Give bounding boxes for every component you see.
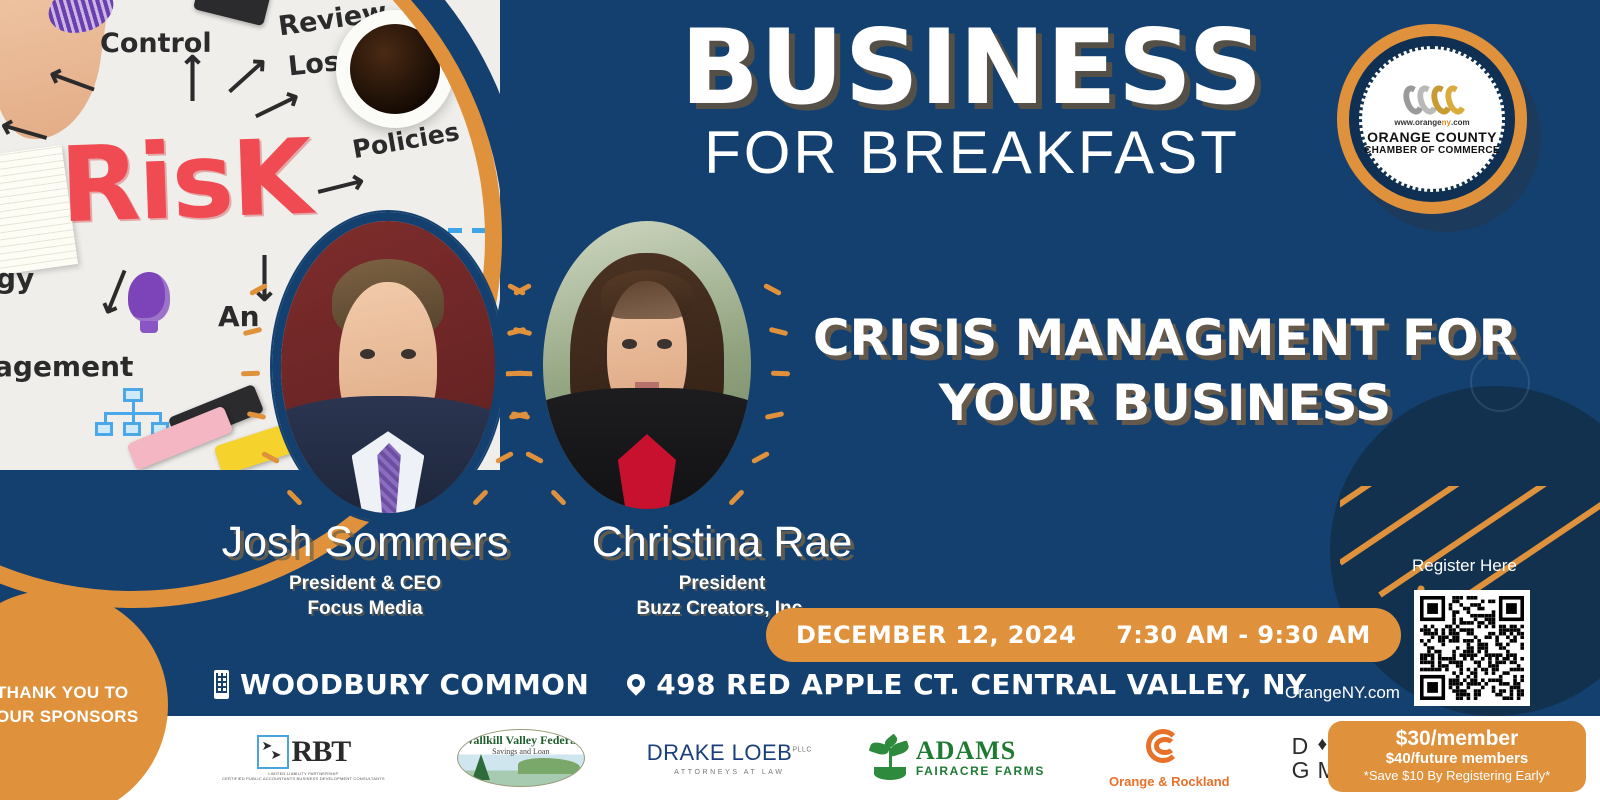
thank-you-sponsors-badge: THANK YOU TO OUR SPONSORS xyxy=(0,590,168,800)
speaker-name: Josh Sommers xyxy=(180,520,550,566)
sponsor-name: DRAKE LOEB xyxy=(647,740,793,765)
building-icon xyxy=(214,670,229,699)
plant-icon xyxy=(870,736,910,780)
price-member: $30/member xyxy=(1336,727,1578,750)
sponsor-logo-wallkill-valley[interactable]: Wallkill Valley Federal Savings and Loan xyxy=(457,716,585,800)
pricing-box: $30/member $40/future members *Save $10 … xyxy=(1328,721,1586,792)
geese-icon: ➤ ➤ xyxy=(257,735,289,769)
event-datetime-pill: DECEMBER 12, 2024 7:30 AM - 9:30 AM xyxy=(766,608,1401,662)
sponsor-name: ADAMS xyxy=(916,738,1045,764)
sponsor-name: Orange & Rockland xyxy=(1109,774,1230,789)
whiteboard-word-strategy: gy xyxy=(0,262,34,295)
whiteboard-word-management: agement xyxy=(0,350,133,383)
flyer-title: BUSINESS FOR BREAKFAST xyxy=(636,18,1308,186)
sponsor-logo-rbt[interactable]: ➤ ➤ RBT LIMITED LIABILITY PARTNERSHIP CE… xyxy=(222,716,385,800)
arrow-icon: ⟶ xyxy=(172,54,212,103)
tree-icon xyxy=(472,754,490,780)
marker-black xyxy=(193,0,271,26)
website-url[interactable]: OrangeNY.com xyxy=(1285,683,1400,703)
dgm-letter-d: D xyxy=(1292,735,1310,758)
sponsor-subtitle-1: FAIRACRE FARMS xyxy=(916,764,1045,778)
event-venue: WOODBURY COMMON xyxy=(240,668,589,701)
speaker-info-josh-sommers: Josh Sommers President & CEO Focus Media xyxy=(180,520,550,622)
event-date: DECEMBER 12, 2024 xyxy=(796,621,1076,649)
price-note: *Save $10 By Registering Early* xyxy=(1336,768,1578,784)
event-flyer: Control Review Loss Policies agement gy … xyxy=(0,0,1600,800)
sponsor-name: Wallkill Valley Federal xyxy=(458,733,584,748)
title-line-1: BUSINESS xyxy=(636,18,1308,119)
badge-website: www.orangeny.com xyxy=(1394,118,1469,127)
lightbulb-icon xyxy=(128,272,170,322)
sponsor-logo-orange-rockland[interactable]: Orange & Rockland xyxy=(1109,716,1230,800)
register-label: Register Here xyxy=(1412,556,1517,576)
sponsor-subtitle-1: ATTORNEYS AT LAW xyxy=(674,769,784,776)
thanks-line-1: THANK YOU TO xyxy=(0,681,168,705)
session-headline: CRISIS MANAGMENT FOR YOUR BUSINESS xyxy=(770,306,1560,436)
sponsor-logo-adams[interactable]: ADAMS FAIRACRE FARMS xyxy=(870,716,1045,800)
or-mark-icon xyxy=(1140,727,1198,771)
sponsor-suffix: PLLC xyxy=(792,747,812,754)
map-pin-icon xyxy=(623,670,648,695)
event-time: 7:30 AM - 9:30 AM xyxy=(1116,621,1371,649)
dgm-letter-g: G xyxy=(1292,759,1310,782)
speaker-photo-josh-sommers xyxy=(272,212,504,522)
badge-line-2: CHAMBER OF COMMERCE xyxy=(1364,145,1500,156)
sponsor-name: RBT xyxy=(292,735,351,769)
price-future-member: $40/future members xyxy=(1336,750,1578,768)
sponsor-subtitle-1: Savings and Loan xyxy=(458,747,584,756)
sponsor-logo-drake-loeb[interactable]: DRAKE LOEBPLLC ATTORNEYS AT LAW xyxy=(647,716,812,800)
speaker-name: Christina Rae xyxy=(548,520,896,566)
speaker-info-christina-rae: Christina Rae President Buzz Creators, I… xyxy=(548,520,896,622)
event-location-row: WOODBURY COMMON 498 RED APPLE CT. CENTRA… xyxy=(214,668,1307,701)
thanks-line-2: OUR SPONSORS xyxy=(0,705,168,729)
registration-qr-code[interactable] xyxy=(1414,590,1530,706)
sponsor-subtitle-2: CERTIFIED PUBLIC ACCOUNTANTS BUSINESS DE… xyxy=(222,776,385,781)
speaker-role: President xyxy=(548,571,896,597)
hill-shape xyxy=(518,758,580,774)
speaker-company: Focus Media xyxy=(180,596,550,622)
speaker-photo-christina-rae xyxy=(534,212,760,518)
crescent-logo-icon xyxy=(1404,83,1460,117)
chamber-logo-badge: www.orangeny.com ORANGE COUNTY CHAMBER O… xyxy=(1337,24,1527,214)
title-line-2: FOR BREAKFAST xyxy=(636,121,1308,186)
badge-line-1: ORANGE COUNTY xyxy=(1367,129,1497,145)
coffee-liquid xyxy=(350,24,440,114)
speaker-role: President & CEO xyxy=(180,571,550,597)
event-address: 498 RED APPLE CT. CENTRAL VALLEY, NY xyxy=(656,668,1307,701)
